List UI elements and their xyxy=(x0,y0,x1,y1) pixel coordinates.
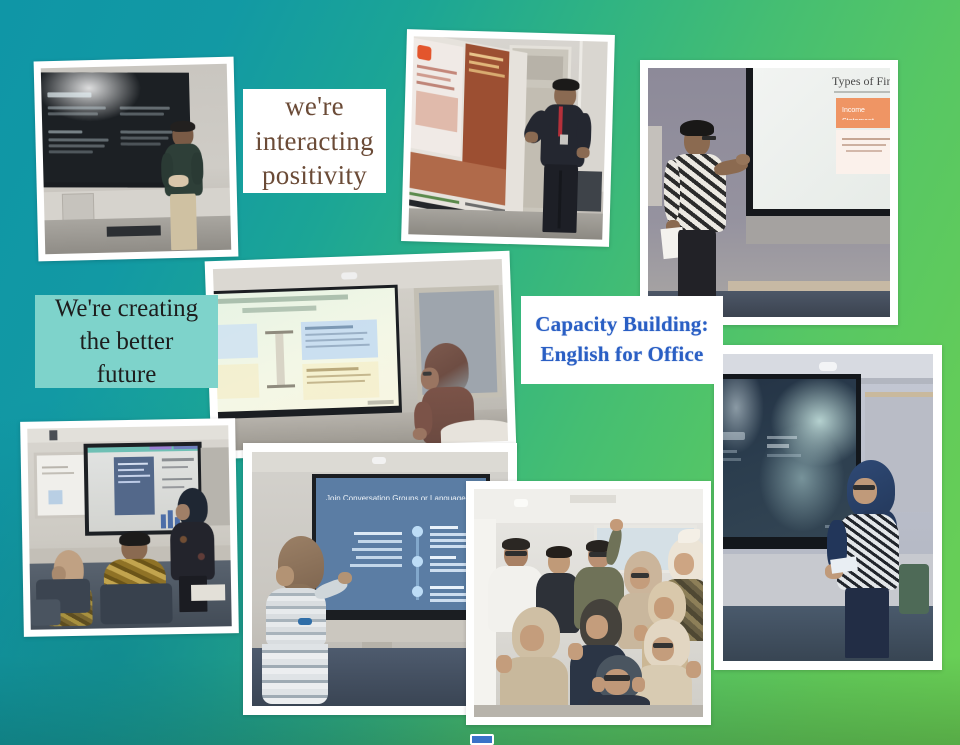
title-card: Capacity Building: English for Office xyxy=(521,296,723,384)
slide-subtitle-income-statement: Income Statement xyxy=(842,107,874,120)
quote-card-creating: We're creating the better future xyxy=(35,295,218,388)
quote-line-1: we're xyxy=(255,89,374,124)
photo-group-peace-signs xyxy=(474,489,703,717)
title-line-1: Capacity Building: xyxy=(535,310,708,340)
photo-hijab-green-slide xyxy=(213,259,508,451)
photo-card-presenter-suit-lanyard[interactable] xyxy=(401,29,615,247)
quote-line-3: positivity xyxy=(255,158,374,193)
quote-card-interacting: we're interacting positivity xyxy=(243,89,386,193)
quote-line-1: We're creating xyxy=(55,292,198,325)
collage-canvas: Types of Financial Income Statement xyxy=(0,0,960,745)
quote-text-creating: We're creating the better future xyxy=(55,292,198,391)
photo-card-hijab-green-slide[interactable] xyxy=(205,251,517,460)
photo-classroom-audience xyxy=(27,425,231,629)
photo-batik-financial-slide: Types of Financial Income Statement xyxy=(648,68,890,317)
quote-text-interacting: we're interacting positivity xyxy=(255,89,374,193)
photo-presenter-suit-lanyard xyxy=(408,36,607,239)
photo-card-group-peace-signs[interactable] xyxy=(466,481,711,725)
photo-card-batik-financial-slide[interactable]: Types of Financial Income Statement xyxy=(640,60,898,325)
quote-line-2: the better xyxy=(55,325,198,358)
photo-presenter-dark-screen xyxy=(41,64,231,254)
photo-card-navy-hijab-cloud-slide[interactable] xyxy=(714,345,942,670)
page-title: Capacity Building: English for Office xyxy=(535,310,708,370)
photo-navy-hijab-cloud-slide xyxy=(723,354,933,661)
slide-title-financial: Types of Financial xyxy=(832,74,890,88)
quote-line-3: future xyxy=(55,358,198,391)
photo-card-presenter-dark-screen[interactable] xyxy=(34,57,239,262)
photo-card-classroom-audience[interactable] xyxy=(20,418,239,637)
title-line-2: English for Office xyxy=(535,340,708,370)
quote-line-2: interacting xyxy=(255,124,374,159)
bottom-indicator[interactable] xyxy=(470,734,494,745)
